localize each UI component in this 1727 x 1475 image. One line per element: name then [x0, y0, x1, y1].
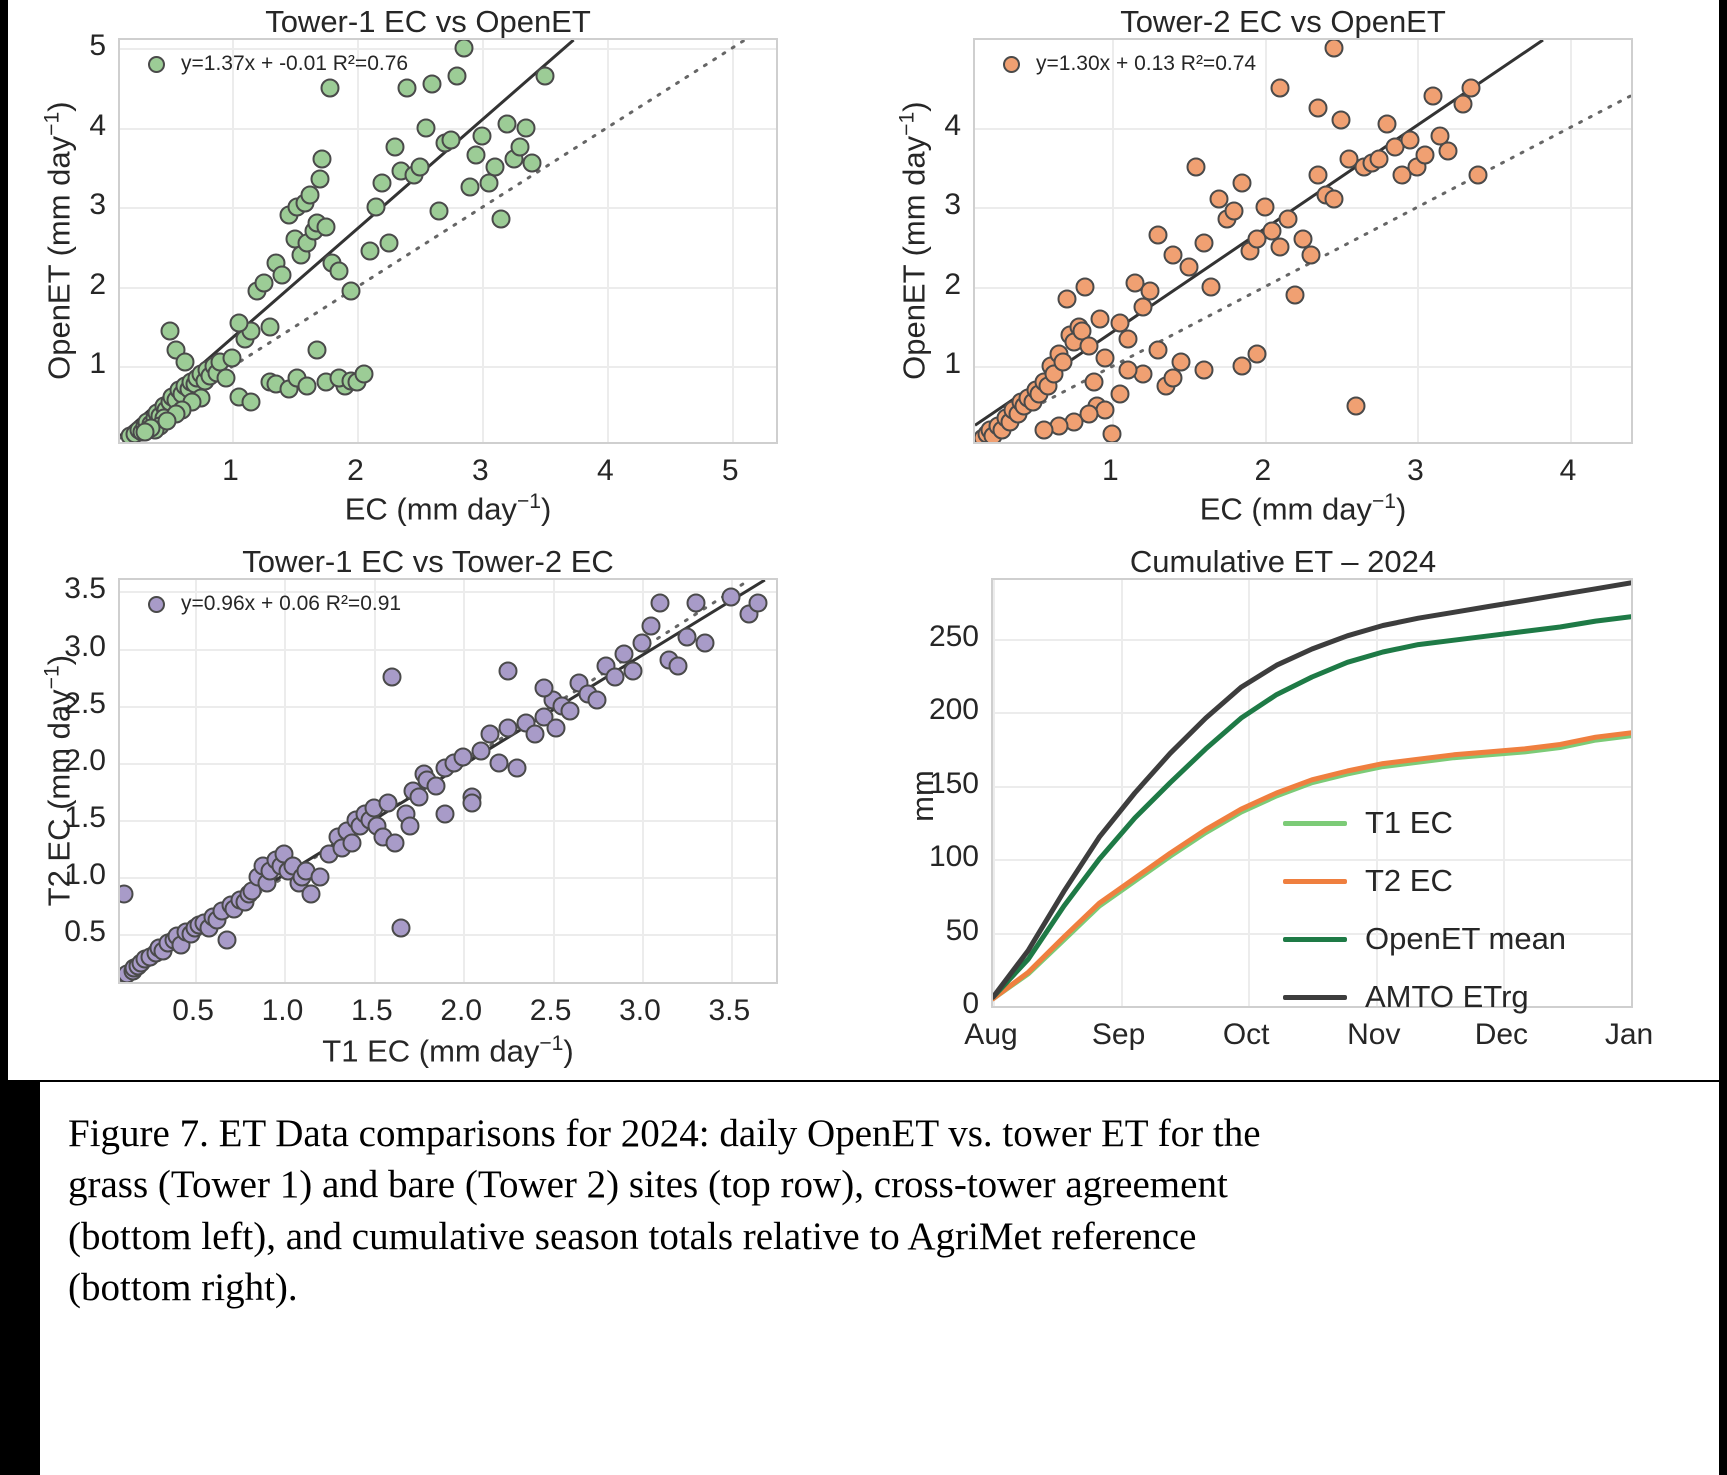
- y-tick-label: 2: [877, 268, 961, 302]
- scatter-point: [1075, 277, 1094, 296]
- scatter-point: [382, 668, 401, 687]
- x-tick-label-month: Dec: [1475, 1018, 1528, 1052]
- scatter-point: [1141, 281, 1160, 300]
- scatter-point: [379, 233, 398, 252]
- scatter-point: [510, 138, 529, 157]
- y-tick-label: 1.0: [22, 858, 106, 892]
- scatter-point: [722, 588, 741, 607]
- scatter-point: [298, 377, 317, 396]
- legend-item[interactable]: OpenET mean: [1283, 921, 1566, 957]
- scatter-point: [423, 74, 442, 93]
- scatter-point: [311, 867, 330, 886]
- y-tick-label: 4: [877, 109, 961, 143]
- scatter-point: [391, 919, 410, 938]
- x-tick-label: 4: [1560, 454, 1577, 488]
- scatter-point: [472, 742, 491, 761]
- scatter-point: [1332, 110, 1351, 129]
- legend-line-swatch: [1283, 995, 1347, 1000]
- scatter-point: [1095, 349, 1114, 368]
- figure-canvas: Tower-1 EC vs OpenET y=1.37x + -0.01 R²=…: [8, 0, 1719, 1080]
- scatter-point: [1255, 198, 1274, 217]
- scatter-point: [668, 656, 687, 675]
- y-tick-label: 1: [22, 347, 106, 381]
- scatter-point: [242, 393, 261, 412]
- scatter-point: [448, 66, 467, 85]
- x-tick-label-month: Aug: [964, 1018, 1017, 1052]
- y-tick-label: 250: [891, 620, 979, 654]
- x-tick-label-month: Sep: [1092, 1018, 1145, 1052]
- scatter-point: [1084, 373, 1103, 392]
- y-tick-label: 3.0: [22, 630, 106, 664]
- fit-stats-text: y=1.30x + 0.13 R²=0.74: [1036, 52, 1256, 76]
- scatter-point: [1271, 78, 1290, 97]
- scatter-point: [1347, 397, 1366, 416]
- scatter-point: [1118, 361, 1137, 380]
- scatter-point: [218, 930, 237, 949]
- scatter-point: [523, 154, 542, 173]
- x-tick-label: 3.5: [708, 994, 750, 1028]
- scatter-point: [1054, 353, 1073, 372]
- scatter-point: [442, 130, 461, 149]
- scatter-point: [1179, 257, 1198, 276]
- x-tick-label: 2.0: [440, 994, 482, 1028]
- scatter-point: [417, 118, 436, 137]
- y-tick-label: 4: [22, 109, 106, 143]
- y-tick-label: 1.5: [22, 801, 106, 835]
- y-tick-label: 5: [22, 29, 106, 63]
- scatter-point: [1286, 285, 1305, 304]
- scatter-point: [273, 265, 292, 284]
- scatter-point: [400, 816, 419, 835]
- scatter-point: [1103, 425, 1122, 444]
- scatter-point: [1278, 210, 1297, 229]
- scatter-point: [1194, 361, 1213, 380]
- scatter-point: [223, 349, 242, 368]
- legend-line-swatch: [1283, 937, 1347, 942]
- plot-area-tower2-vs-openet: [973, 38, 1633, 444]
- fit-stats-legend-tower1: y=1.37x + -0.01 R²=0.76: [148, 52, 408, 76]
- y-tick-label: 2.0: [22, 744, 106, 778]
- scatter-point: [489, 753, 508, 772]
- legend-label: AMTO ETrg: [1365, 979, 1529, 1015]
- scatter-point: [135, 422, 154, 441]
- scatter-point: [410, 158, 429, 177]
- x-tick-label-month: Oct: [1223, 1018, 1270, 1052]
- scatter-point: [1469, 166, 1488, 185]
- one-to-one-line: [975, 96, 1631, 438]
- scatter-point: [695, 633, 714, 652]
- scatter-point: [1309, 98, 1328, 117]
- scatter-point: [749, 593, 768, 612]
- scatter-point: [481, 725, 500, 744]
- scatter-point: [317, 218, 336, 237]
- gridline-vertical: [1631, 580, 1633, 1006]
- x-tick-label: 0.5: [172, 994, 214, 1028]
- x-tick-label: 2: [347, 454, 364, 488]
- scatter-point: [308, 341, 327, 360]
- scatter-point: [367, 198, 386, 217]
- scatter-point: [463, 793, 482, 812]
- scatter-point: [158, 411, 177, 430]
- legend-line-swatch: [1283, 879, 1347, 884]
- scatter-point: [409, 787, 428, 806]
- fit-stats-text: y=0.96x + 0.06 R²=0.91: [181, 592, 401, 616]
- scatter-point: [1232, 357, 1251, 376]
- scatter-point: [498, 662, 517, 681]
- y-tick-label: 100: [891, 840, 979, 874]
- scatter-point: [641, 616, 660, 635]
- x-tick-label: 1.5: [351, 994, 393, 1028]
- scatter-point: [300, 186, 319, 205]
- legend-item[interactable]: T2 EC: [1283, 863, 1566, 899]
- axis-label-x-cross: T1 EC (mm day−1): [118, 1032, 778, 1069]
- scatter-point: [1301, 245, 1320, 264]
- y-tick-label: 2: [22, 268, 106, 302]
- plot-area-tower1-vs-tower2: [118, 578, 778, 984]
- scatter-point: [1149, 341, 1168, 360]
- scatter-point: [485, 158, 504, 177]
- scatter-point: [342, 281, 361, 300]
- scatter-point: [385, 138, 404, 157]
- scatter-point: [473, 126, 492, 145]
- figure-caption-text: Figure 7. ET Data comparisons for 2024: …: [68, 1108, 1667, 1314]
- scatter-point: [1091, 309, 1110, 328]
- scatter-point: [329, 261, 348, 280]
- scatter-point: [1194, 233, 1213, 252]
- scatter-point: [360, 241, 379, 260]
- scatter-point: [492, 210, 511, 229]
- legend-label: T2 EC: [1365, 863, 1453, 899]
- scatter-point: [1377, 114, 1396, 133]
- scatter-point: [1324, 190, 1343, 209]
- x-tick-label-month: Nov: [1347, 1018, 1400, 1052]
- scatter-point: [525, 725, 544, 744]
- axis-label-y-tower1: OpenET (mm day−1): [40, 38, 77, 444]
- axis-label-y-tower2: OpenET (mm day−1): [895, 38, 932, 444]
- scatter-point: [1324, 38, 1343, 57]
- scatter-point: [429, 202, 448, 221]
- scatter-point: [302, 885, 321, 904]
- scatter-point: [561, 702, 580, 721]
- panel-title-cumulative-et: Cumulative ET – 2024: [863, 544, 1703, 580]
- scatter-point: [398, 78, 417, 97]
- scatter-point: [1202, 277, 1221, 296]
- legend-item[interactable]: AMTO ETrg: [1283, 979, 1566, 1015]
- scatter-point: [460, 178, 479, 197]
- scatter-point: [517, 118, 536, 137]
- scatter-point: [650, 593, 669, 612]
- fit-stats-legend-tower2: y=1.30x + 0.13 R²=0.74: [1003, 52, 1256, 76]
- legend-marker-swatch: [148, 596, 165, 613]
- scatter-point: [1118, 329, 1137, 348]
- legend-label: T1 EC: [1365, 805, 1453, 841]
- y-tick-label: 3.5: [22, 572, 106, 606]
- x-tick-label: 1: [222, 454, 239, 488]
- x-tick-label: 3: [472, 454, 489, 488]
- legend-label: OpenET mean: [1365, 921, 1566, 957]
- scatter-point: [1416, 146, 1435, 165]
- scatter-point: [320, 78, 339, 97]
- scatter-point: [1400, 130, 1419, 149]
- scatter-point: [1271, 237, 1290, 256]
- x-tick-label: 3: [1407, 454, 1424, 488]
- panel-tower2-vs-openet: Tower-2 EC vs OpenET y=1.30x + 0.13 R²=0…: [863, 0, 1703, 540]
- legend-item[interactable]: T1 EC: [1283, 805, 1566, 841]
- scatter-point: [686, 593, 705, 612]
- x-tick-label: 1: [1102, 454, 1119, 488]
- scatter-point: [547, 719, 566, 738]
- scatter-point: [310, 170, 329, 189]
- scatter-point: [1423, 86, 1442, 105]
- figure-page: Tower-1 EC vs OpenET y=1.37x + -0.01 R²=…: [0, 0, 1727, 1475]
- scatter-point: [615, 645, 634, 664]
- scatter-point: [606, 668, 625, 687]
- scatter-point: [373, 174, 392, 193]
- scatter-point: [254, 273, 273, 292]
- axis-label-x-tower1: EC (mm day−1): [118, 490, 778, 527]
- scatter-point: [467, 146, 486, 165]
- panel-cumulative-et: Cumulative ET – 2024 mm T1 ECT2 ECOpenET…: [863, 540, 1703, 1080]
- scatter-point: [1461, 78, 1480, 97]
- scatter-point: [1232, 174, 1251, 193]
- y-tick-label: 50: [891, 914, 979, 948]
- panel-tower1-vs-openet: Tower-1 EC vs OpenET y=1.37x + -0.01 R²=…: [8, 0, 848, 540]
- scatter-point: [160, 321, 179, 340]
- x-tick-label-month: Jan: [1605, 1018, 1653, 1052]
- scatter-point: [1057, 289, 1076, 308]
- panel-title-tower1-vs-openet: Tower-1 EC vs OpenET: [8, 4, 848, 40]
- plot-area-tower1-vs-openet: [118, 38, 778, 444]
- scatter-point: [1225, 202, 1244, 221]
- y-tick-label: 150: [891, 767, 979, 801]
- scatter-point: [343, 833, 362, 852]
- scatter-point: [313, 150, 332, 169]
- scatter-point: [624, 662, 643, 681]
- scatter-point: [1034, 421, 1053, 440]
- scatter-point: [677, 628, 696, 647]
- series-legend-cumulative: T1 ECT2 ECOpenET meanAMTO ETrg: [1283, 805, 1566, 1015]
- scatter-point: [175, 353, 194, 372]
- legend-line-swatch: [1283, 821, 1347, 826]
- x-tick-label: 3.0: [619, 994, 661, 1028]
- y-tick-label: 3: [22, 188, 106, 222]
- scatter-point: [1187, 158, 1206, 177]
- panel-tower1-vs-tower2: Tower-1 EC vs Tower-2 EC y=0.96x + 0.06 …: [8, 540, 848, 1080]
- scatter-point: [260, 317, 279, 336]
- scatter-point: [535, 66, 554, 85]
- scatter-point: [454, 748, 473, 767]
- y-tick-label: 0: [891, 987, 979, 1021]
- scatter-point: [454, 38, 473, 57]
- scatter-point: [534, 679, 553, 698]
- fit-stats-text: y=1.37x + -0.01 R²=0.76: [181, 52, 408, 76]
- x-tick-label: 4: [597, 454, 614, 488]
- legend-marker-swatch: [148, 56, 165, 73]
- scatter-point: [217, 369, 236, 388]
- scatter-point: [379, 793, 398, 812]
- panel-title-tower2-vs-openet: Tower-2 EC vs OpenET: [863, 4, 1703, 40]
- scatter-point: [632, 633, 651, 652]
- scatter-point: [229, 313, 248, 332]
- scatter-point: [588, 690, 607, 709]
- y-tick-label: 3: [877, 188, 961, 222]
- scatter-point: [498, 114, 517, 133]
- panel-title-tower1-vs-tower2: Tower-1 EC vs Tower-2 EC: [8, 544, 848, 580]
- y-tick-label: 0.5: [22, 915, 106, 949]
- y-tick-label: 2.5: [22, 687, 106, 721]
- y-tick-label: 200: [891, 693, 979, 727]
- scatter-point: [1438, 142, 1457, 161]
- y-tick-label: 1: [877, 347, 961, 381]
- scatter-point: [1248, 345, 1267, 364]
- x-tick-label: 5: [722, 454, 739, 488]
- scatter-point: [427, 776, 446, 795]
- scatter-point: [1110, 385, 1129, 404]
- x-tick-label: 2.5: [530, 994, 572, 1028]
- legend-marker-swatch: [1003, 56, 1020, 73]
- axis-label-x-tower2: EC (mm day−1): [973, 490, 1633, 527]
- scatter-point: [1164, 369, 1183, 388]
- scatter-point: [386, 833, 405, 852]
- scatter-point: [1309, 166, 1328, 185]
- x-tick-label: 1.0: [262, 994, 304, 1028]
- scatter-point: [507, 759, 526, 778]
- x-tick-label: 2: [1255, 454, 1272, 488]
- scatter-point: [498, 719, 517, 738]
- figure-caption-block: Figure 7. ET Data comparisons for 2024: …: [40, 1082, 1719, 1475]
- scatter-point: [354, 365, 373, 384]
- scatter-point: [1149, 226, 1168, 245]
- scatter-point: [436, 805, 455, 824]
- fit-stats-legend-cross: y=0.96x + 0.06 R²=0.91: [148, 592, 401, 616]
